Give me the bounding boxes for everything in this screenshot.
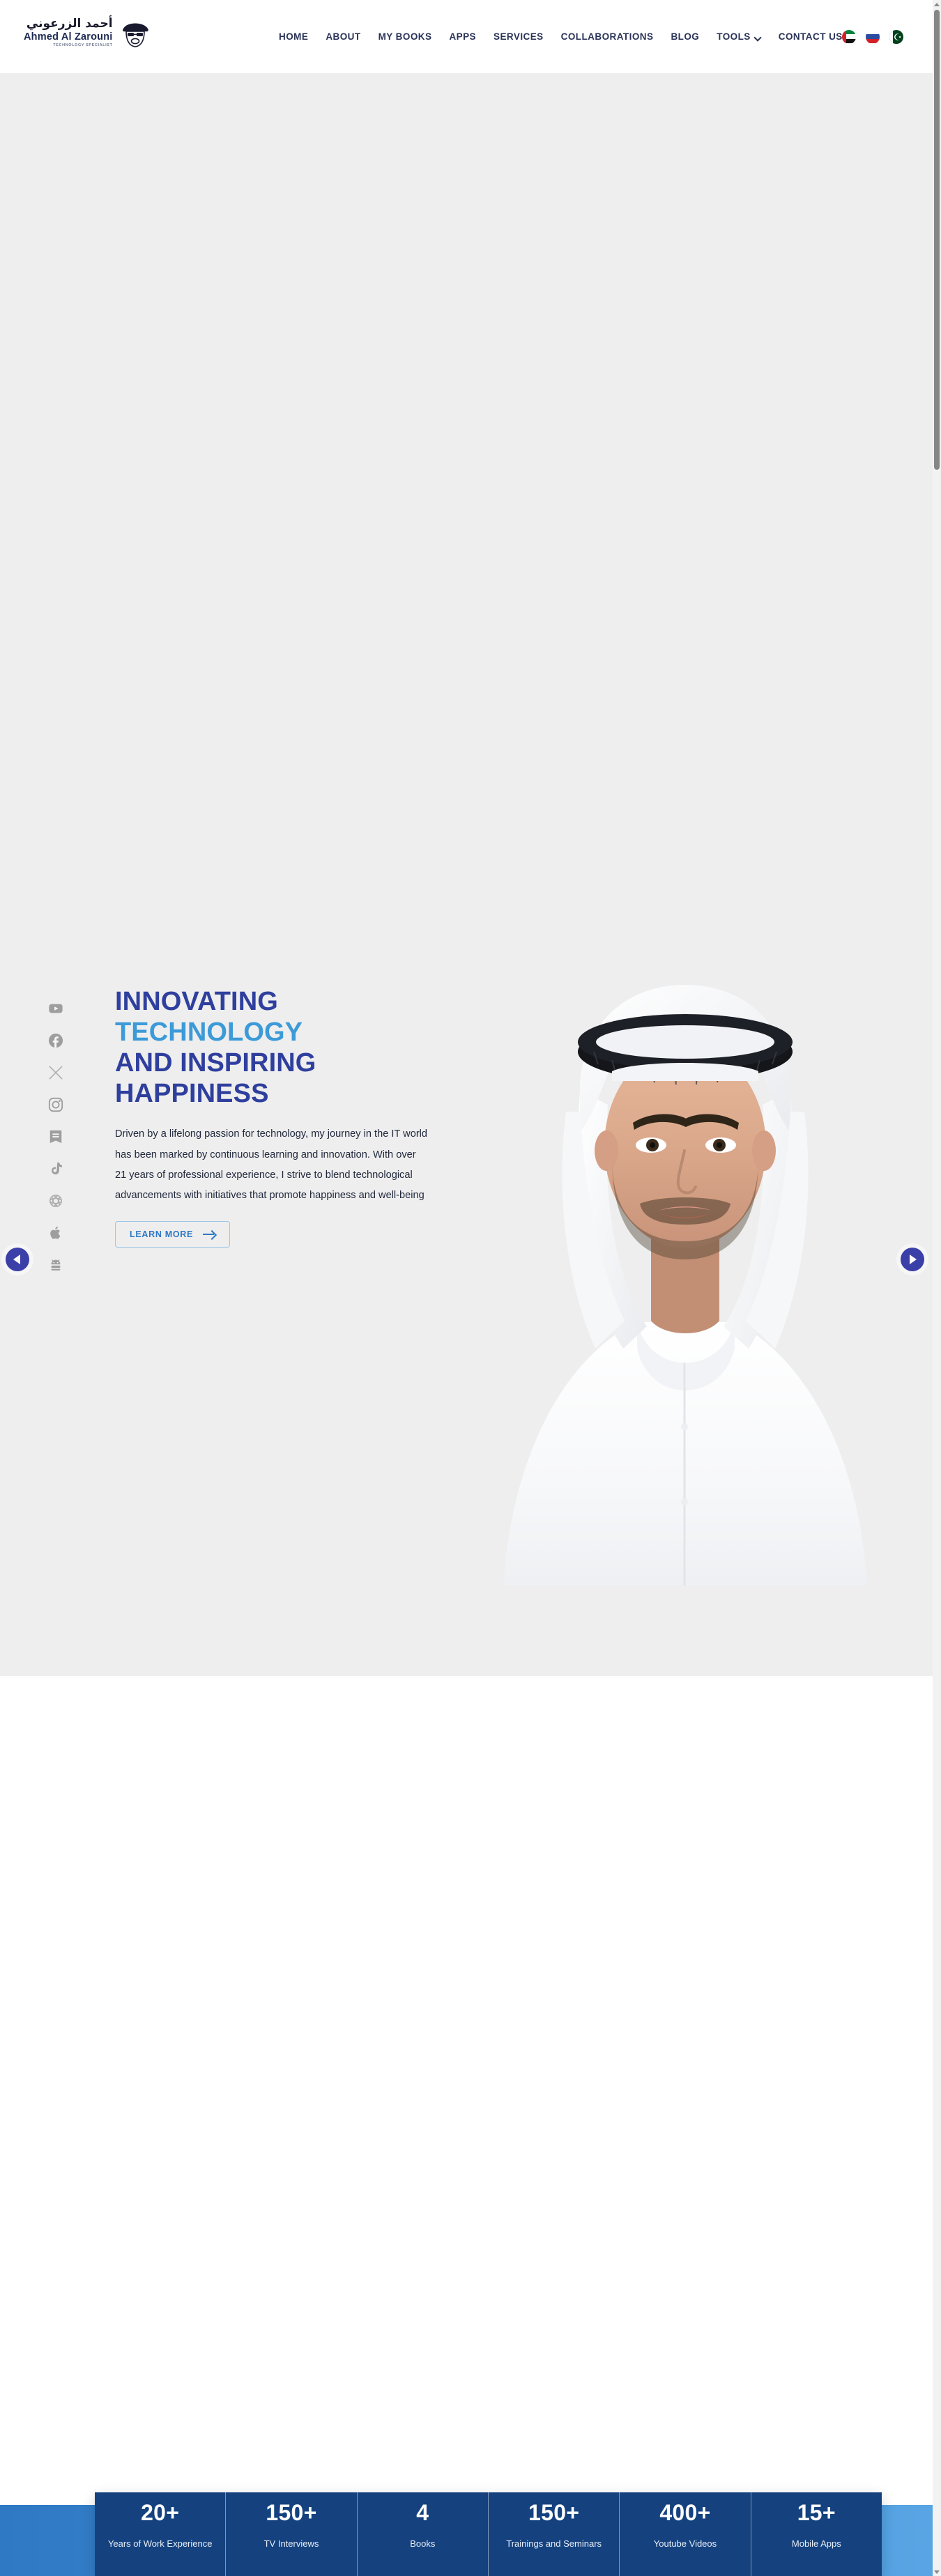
tiktok-icon[interactable]	[47, 1160, 64, 1177]
portrait-emblem-icon	[118, 17, 152, 49]
hero-section: INNOVATING TECHNOLOGY AND INSPIRING HAPP…	[0, 73, 933, 1676]
instagram-icon[interactable]	[47, 1096, 64, 1113]
stat-value: 150+	[528, 2501, 579, 2524]
nav-label: CONTACT US	[779, 31, 843, 42]
stat-value: 150+	[266, 2501, 316, 2524]
stat-item: 15+ Mobile Apps	[751, 2492, 882, 2576]
stats-bar: 20+ Years of Work Experience 150+ TV Int…	[95, 2492, 882, 2576]
nav-label: SERVICES	[494, 31, 544, 42]
nav-item-contact-us[interactable]: CONTACT US	[779, 31, 843, 42]
nav-item-services[interactable]: SERVICES	[494, 31, 544, 42]
nav-item-collaborations[interactable]: COLLABORATIONS	[561, 31, 654, 42]
brand-name-arabic: أحمد الزرعوني	[26, 18, 113, 30]
social-media-rail	[47, 1000, 64, 1273]
openai-icon[interactable]	[47, 1193, 64, 1209]
stat-value: 20+	[141, 2501, 179, 2524]
page-root: أحمد الزرعوني Ahmed Al Zarouni TECHNOLOG…	[0, 0, 941, 2576]
learn-more-label: LEARN MORE	[130, 1229, 193, 1239]
brand-name-english: Ahmed Al Zarouni	[24, 32, 113, 43]
stat-item: 150+ TV Interviews	[226, 2492, 357, 2576]
scroll-down-arrow-icon[interactable]	[933, 2568, 941, 2576]
nav-item-apps[interactable]: APPS	[449, 31, 476, 42]
hero-portrait-image	[441, 861, 933, 1593]
nav-label: COLLABORATIONS	[561, 31, 654, 42]
nav-item-blog[interactable]: BLOG	[671, 31, 699, 42]
facebook-icon[interactable]	[47, 1032, 64, 1049]
book-icon[interactable]	[47, 1128, 64, 1145]
stat-label: TV Interviews	[264, 2538, 319, 2551]
stat-value: 4	[416, 2501, 429, 2524]
android-icon[interactable]	[47, 1257, 64, 1273]
nav-label: ABOUT	[326, 31, 360, 42]
youtube-icon[interactable]	[47, 1000, 64, 1017]
chevron-left-icon	[13, 1255, 20, 1264]
scroll-up-arrow-icon[interactable]	[933, 0, 941, 8]
stat-label: Years of Work Experience	[108, 2538, 213, 2551]
hero-title-line-2: TECHNOLOGY	[115, 1017, 443, 1048]
stat-label: Books	[410, 2538, 435, 2551]
brand-tagline: TECHNOLOGY SPECIALIST	[53, 44, 112, 48]
site-header: أحمد الزرعوني Ahmed Al Zarouni TECHNOLOG…	[0, 0, 933, 73]
hero-title-line-4: HAPPINESS	[115, 1078, 443, 1109]
learn-more-button[interactable]: LEARN MORE	[115, 1221, 230, 1248]
apple-icon[interactable]	[47, 1225, 64, 1241]
main-navigation: HOME ABOUT MY BOOKS APPS SERVICES COLLAB…	[279, 0, 843, 73]
stat-label: Mobile Apps	[792, 2538, 841, 2551]
nav-label: BLOG	[671, 31, 699, 42]
stat-value: 400+	[659, 2501, 710, 2524]
stat-value: 15+	[797, 2501, 836, 2524]
stat-item: 400+ Youtube Videos	[620, 2492, 751, 2576]
flag-uae-icon[interactable]	[842, 30, 856, 44]
nav-label: APPS	[449, 31, 476, 42]
hero-paragraph: Driven by a lifelong passion for technol…	[115, 1124, 429, 1206]
arrow-right-icon	[203, 1230, 215, 1239]
page-title: INNOVATING TECHNOLOGY AND INSPIRING HAPP…	[115, 986, 443, 1109]
stat-label: Trainings and Seminars	[506, 2538, 602, 2551]
stat-item: 4 Books	[358, 2492, 489, 2576]
hero-title-line-3: AND INSPIRING	[115, 1048, 443, 1078]
nav-item-home[interactable]: HOME	[279, 31, 308, 42]
nav-item-my-books[interactable]: MY BOOKS	[378, 31, 432, 42]
scrollbar-thumb[interactable]	[934, 10, 940, 470]
chevron-right-icon	[910, 1255, 917, 1264]
x-twitter-icon[interactable]	[47, 1064, 64, 1081]
language-switcher	[842, 0, 903, 73]
brand-text: أحمد الزرعوني Ahmed Al Zarouni TECHNOLOG…	[24, 18, 113, 47]
nav-item-about[interactable]: ABOUT	[326, 31, 360, 42]
carousel-next-button[interactable]	[901, 1248, 924, 1271]
nav-item-tools[interactable]: TOOLS	[717, 31, 761, 42]
stat-item: 150+ Trainings and Seminars	[489, 2492, 620, 2576]
nav-label: HOME	[279, 31, 308, 42]
chevron-down-icon	[755, 35, 761, 39]
brand-logo[interactable]: أحمد الزرعوني Ahmed Al Zarouni TECHNOLOG…	[24, 17, 152, 49]
stat-label: Youtube Videos	[654, 2538, 717, 2551]
nav-label: MY BOOKS	[378, 31, 432, 42]
hero-title-line-1: INNOVATING	[115, 986, 443, 1017]
page-scrollbar[interactable]	[933, 0, 941, 2576]
flag-russia-icon[interactable]	[866, 30, 880, 44]
nav-label: TOOLS	[717, 31, 751, 42]
hero-copy: INNOVATING TECHNOLOGY AND INSPIRING HAPP…	[115, 986, 443, 1248]
stat-item: 20+ Years of Work Experience	[95, 2492, 226, 2576]
carousel-prev-button[interactable]	[6, 1248, 29, 1271]
flag-pakistan-icon[interactable]	[889, 30, 903, 44]
